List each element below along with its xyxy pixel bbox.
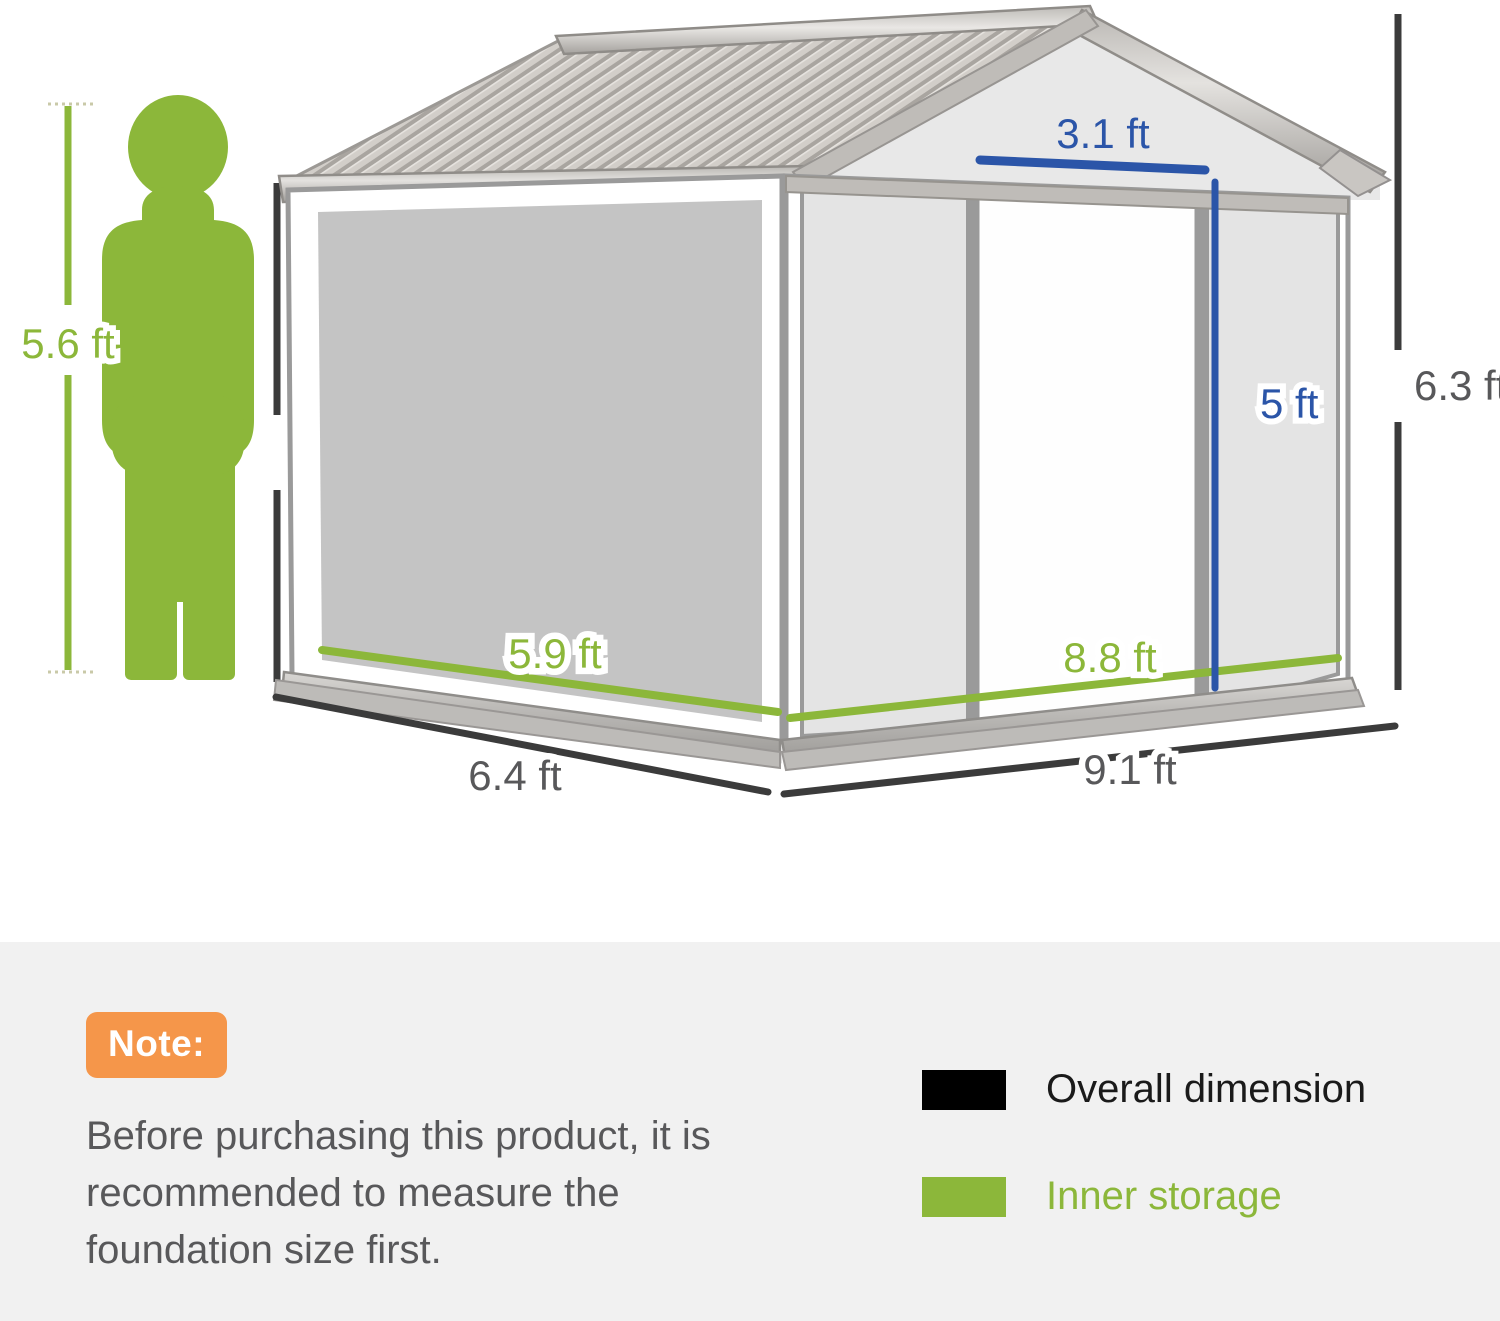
- legend-swatch-black: [922, 1070, 1006, 1110]
- legend-item-overall-dimension: Overall dimension: [922, 1067, 1366, 1112]
- note-badge: Note:: [86, 1012, 227, 1078]
- shed-dimension-illustration: 5.6 ft 5.6 ft 5.1 ft 5.1 ft: [0, 0, 1500, 942]
- shed-3d-model: [274, 6, 1390, 770]
- side-inner-label: 5.9 ft: [508, 630, 602, 677]
- legend-label-overall-dimension: Overall dimension: [1046, 1067, 1366, 1112]
- legend-item-inner-storage: Inner storage: [922, 1174, 1366, 1219]
- person-silhouette-group: 5.6 ft 5.6 ft: [21, 95, 254, 680]
- legend-swatch-green: [922, 1177, 1006, 1217]
- side-overall-label: 6.4 ft: [468, 752, 562, 799]
- front-panel-right: [1207, 203, 1338, 711]
- product-dimension-infographic: 5.6 ft 5.6 ft 5.1 ft 5.1 ft: [0, 0, 1500, 1321]
- legend-label-inner-storage: Inner storage: [1046, 1174, 1282, 1219]
- total-height-label: 6.3 ft: [1414, 362, 1500, 409]
- note-block: Note: Before purchasing this product, it…: [86, 1012, 806, 1278]
- door-height-label: 5 ft: [1260, 380, 1319, 427]
- note-text: Before purchasing this product, it is re…: [86, 1108, 786, 1278]
- front-panel-left: [802, 186, 968, 736]
- front-overall-label: 9.1 ft: [1083, 746, 1177, 793]
- front-inner-label: 8.8 ft: [1063, 634, 1157, 681]
- note-and-legend-panel: Note: Before purchasing this product, it…: [0, 942, 1500, 1321]
- legend: Overall dimension Inner storage: [922, 1067, 1366, 1281]
- svg-text:5.6 ft: 5.6 ft: [21, 320, 115, 367]
- person-icon: [102, 95, 254, 680]
- door-width-label: 3.1 ft: [1056, 110, 1150, 157]
